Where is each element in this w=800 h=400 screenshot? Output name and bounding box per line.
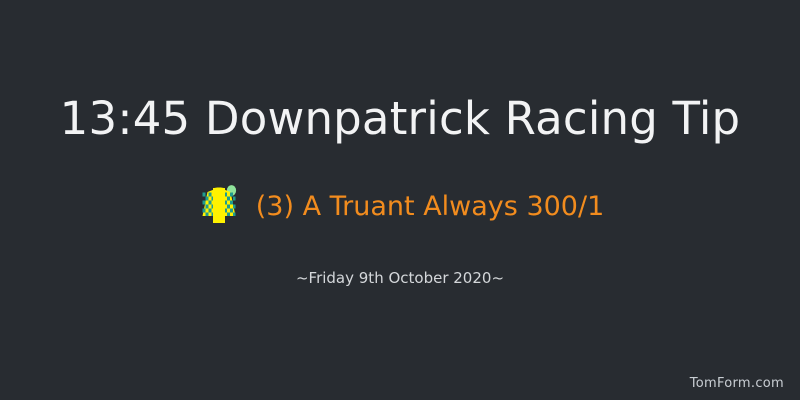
site-watermark: TomForm.com bbox=[690, 377, 784, 390]
page-title: 13:45 Downpatrick Racing Tip bbox=[0, 96, 800, 141]
tip-selection: (3) A Truant Always 300/1 bbox=[256, 193, 605, 220]
racing-tip-card: 13:45 Downpatrick Racing Tip bbox=[0, 0, 800, 400]
horse-name: A Truant Always bbox=[303, 191, 518, 222]
tip-row: (3) A Truant Always 300/1 bbox=[0, 183, 800, 229]
saddle-cloth-number: (3) bbox=[256, 191, 294, 222]
racing-silks-icon bbox=[196, 183, 242, 229]
race-date: ~Friday 9th October 2020~ bbox=[0, 271, 800, 286]
odds: 300/1 bbox=[526, 191, 604, 222]
